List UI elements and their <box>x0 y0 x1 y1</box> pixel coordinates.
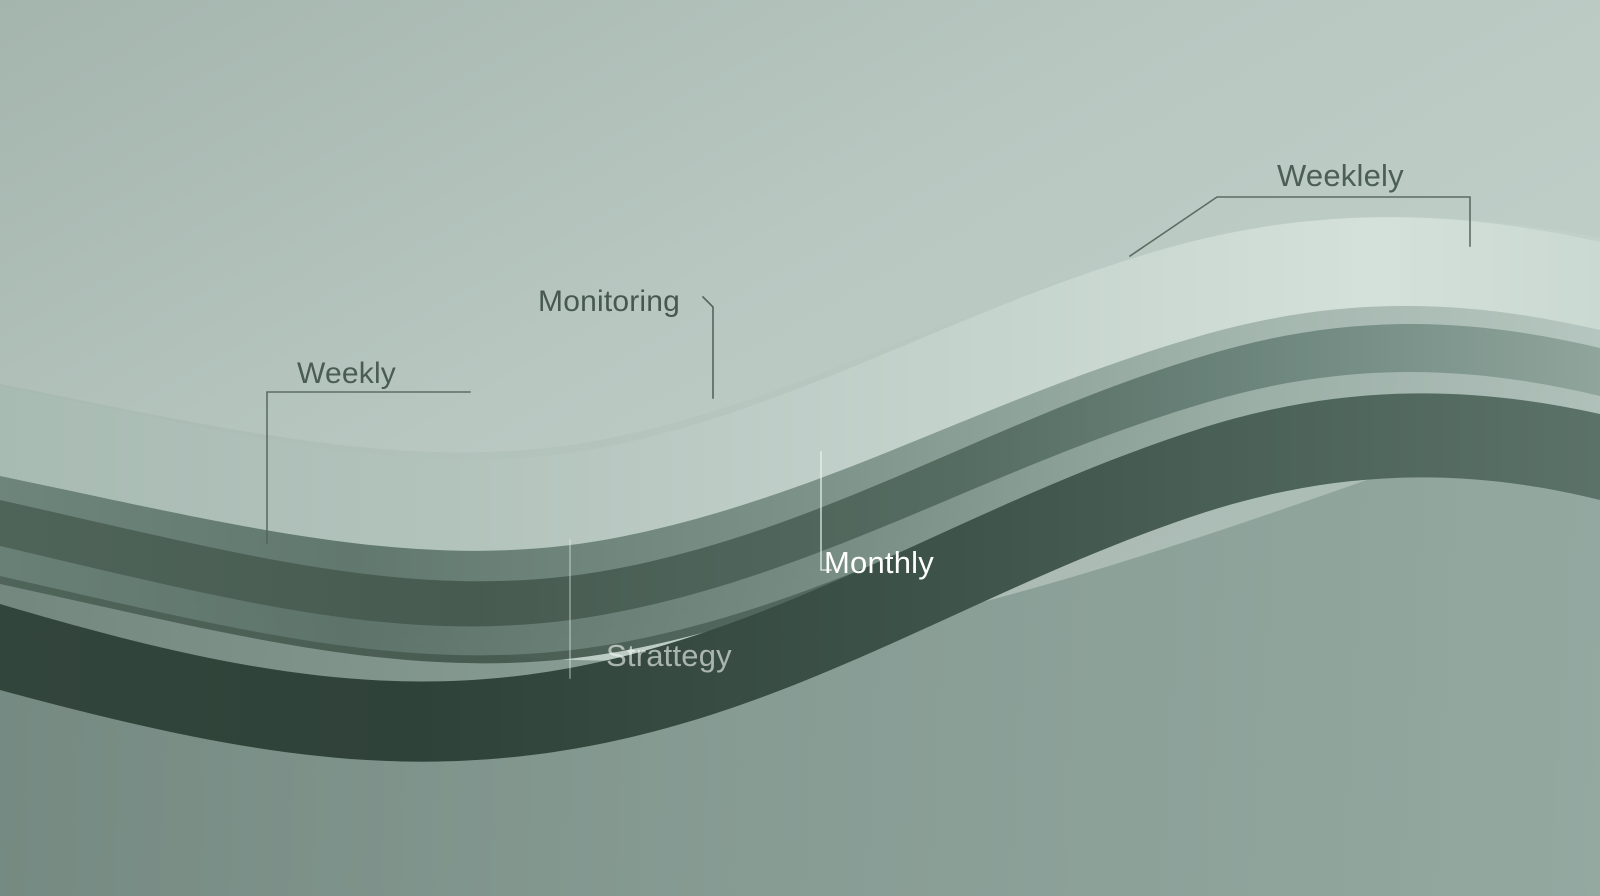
callout-label-strattegy[interactable]: Strattegy <box>606 638 732 674</box>
callout-label-weekly[interactable]: Weekly <box>297 357 396 391</box>
callout-label-monthly[interactable]: Monthly <box>824 545 934 581</box>
artwork-canvas: Weeklely Monitoring Weekly Monthly Strat… <box>0 0 1600 896</box>
callout-label-monitoring[interactable]: Monitoring <box>538 285 680 319</box>
wave-ribbon-illustration <box>0 0 1600 896</box>
callout-label-weeklely[interactable]: Weeklely <box>1277 158 1404 194</box>
